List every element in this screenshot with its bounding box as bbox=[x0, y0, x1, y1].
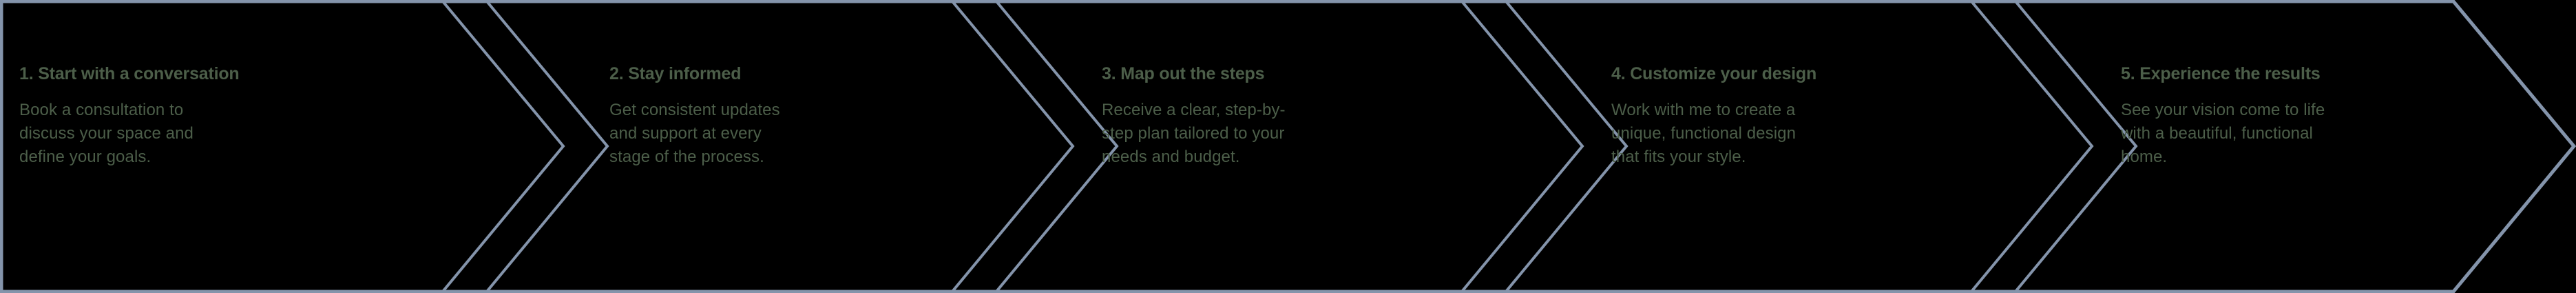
step-title-5: 5. Experience the results bbox=[2121, 63, 2383, 84]
step-description-line: home. bbox=[2121, 145, 2383, 169]
step-description-line: stage of the process. bbox=[609, 145, 837, 169]
step-title-4: 4. Customize your design bbox=[1611, 63, 1859, 84]
step-description-line: that fits your style. bbox=[1611, 145, 1859, 169]
step-description-line: discuss your space and bbox=[19, 122, 247, 145]
step-description-line: with a beautiful, functional bbox=[2121, 122, 2383, 145]
step-description-line: step plan tailored to your bbox=[1102, 122, 1350, 145]
step-description-4: Work with me to create a unique, functio… bbox=[1611, 99, 1859, 169]
step-title-2: 2. Stay informed bbox=[609, 63, 837, 84]
step-description-line: needs and budget. bbox=[1102, 145, 1350, 169]
step-description-line: define your goals. bbox=[19, 145, 247, 169]
step-title-3: 3. Map out the steps bbox=[1102, 63, 1350, 84]
step-description-2: Get consistent updates and support at ev… bbox=[609, 99, 837, 169]
step-list: 1. Start with a conversation Book a cons… bbox=[0, 0, 2576, 293]
step-description-line: Book a consultation to bbox=[19, 99, 247, 122]
step-description-line: Receive a clear, step-by- bbox=[1102, 99, 1350, 122]
step-description-line: See your vision come to life bbox=[2121, 99, 2383, 122]
step-description-line: unique, functional design bbox=[1611, 122, 1859, 145]
step-description-1: Book a consultation to discuss your spac… bbox=[19, 99, 247, 169]
step-description-line: Get consistent updates bbox=[609, 99, 837, 122]
step-item-2: 2. Stay informed Get consistent updates … bbox=[609, 0, 837, 293]
step-item-5: 5. Experience the results See your visio… bbox=[2121, 0, 2383, 293]
process-flow-banner: 1. Start with a conversation Book a cons… bbox=[0, 0, 2576, 293]
step-item-4: 4. Customize your design Work with me to… bbox=[1611, 0, 1859, 293]
step-item-1: 1. Start with a conversation Book a cons… bbox=[19, 0, 247, 293]
step-title-1: 1. Start with a conversation bbox=[19, 63, 247, 84]
step-description-5: See your vision come to life with a beau… bbox=[2121, 99, 2383, 169]
step-item-3: 3. Map out the steps Receive a clear, st… bbox=[1102, 0, 1350, 293]
step-description-line: and support at every bbox=[609, 122, 837, 145]
step-description-line: Work with me to create a bbox=[1611, 99, 1859, 122]
step-description-3: Receive a clear, step-by- step plan tail… bbox=[1102, 99, 1350, 169]
